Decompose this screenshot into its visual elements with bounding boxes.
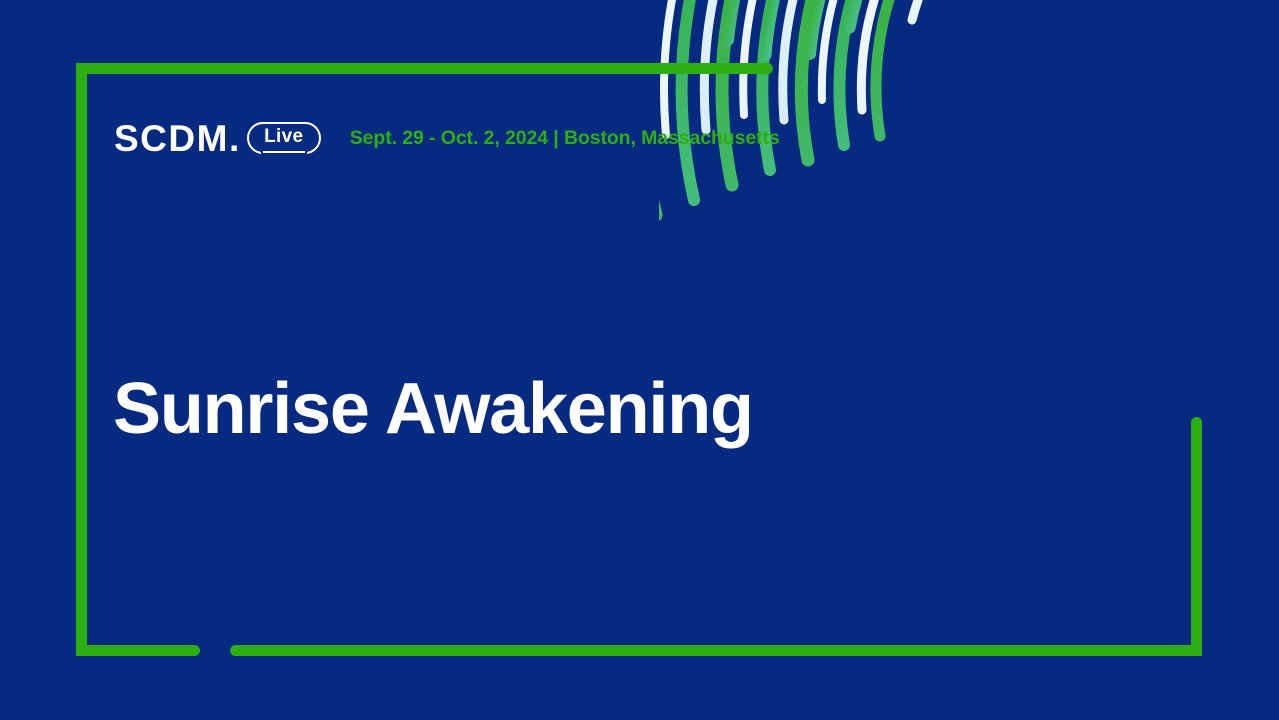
live-badge-label: Live — [247, 122, 321, 154]
frame-border-bottom-long — [230, 645, 1202, 656]
slide-header: SCDM. Live Sept. 29 - Oct. 2, 2024 | Bos… — [114, 113, 780, 163]
slide-title: Sunrise Awakening — [113, 370, 753, 449]
frame-border-bottom-short — [76, 645, 200, 656]
live-badge: Live — [247, 122, 321, 154]
frame-border-right — [1191, 417, 1202, 656]
scdm-wordmark: SCDM. — [114, 120, 241, 157]
frame-border-top — [76, 63, 773, 74]
event-date-location: Sept. 29 - Oct. 2, 2024 | Boston, Massac… — [350, 127, 780, 150]
frame-border-left — [76, 63, 87, 656]
presentation-slide: SCDM. Live Sept. 29 - Oct. 2, 2024 | Bos… — [0, 0, 1279, 720]
scdm-logo: SCDM. Live — [114, 113, 321, 163]
